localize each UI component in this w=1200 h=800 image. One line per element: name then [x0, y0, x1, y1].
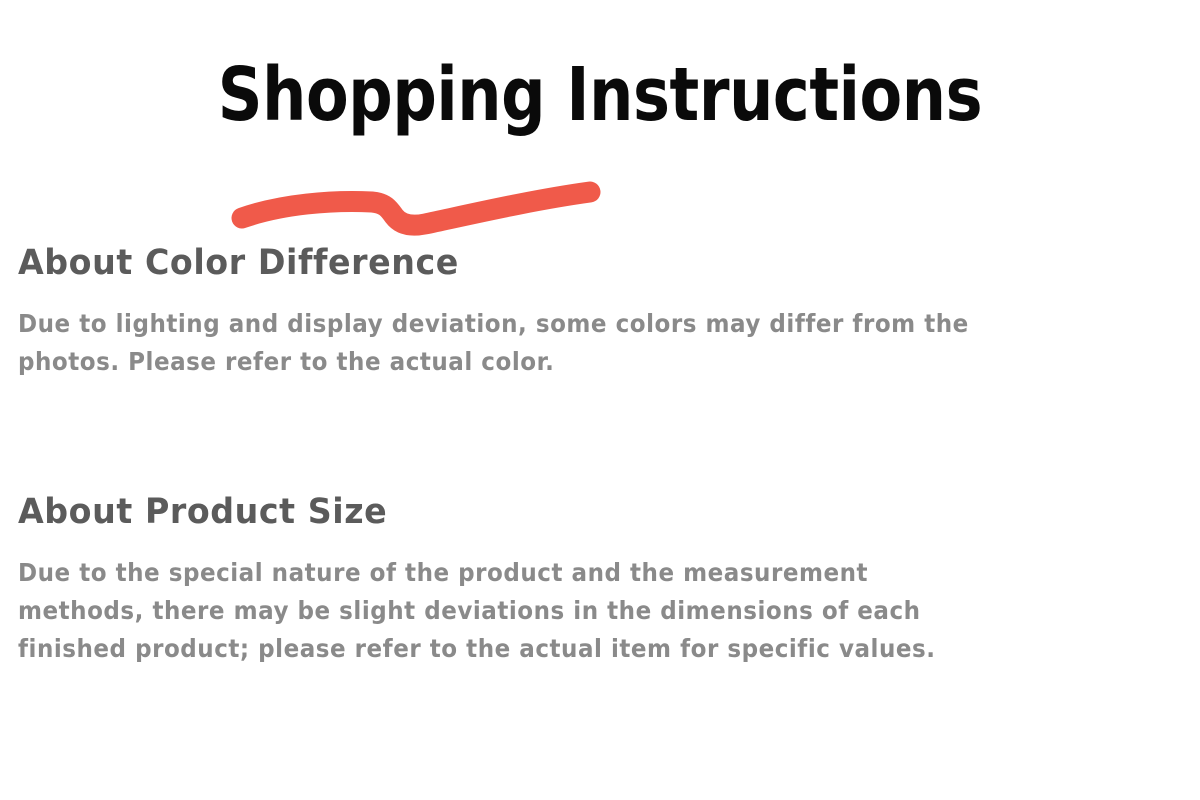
body-line: photos. Please refer to the actual color…	[18, 343, 1118, 381]
section-heading-product-size: About Product Size	[18, 492, 1130, 532]
section-heading-color-difference: About Color Difference	[18, 243, 1130, 283]
body-line: finished product; please refer to the ac…	[18, 630, 1118, 668]
body-line: Due to the special nature of the product…	[18, 554, 1118, 592]
red-brush-underline-icon	[222, 176, 622, 244]
body-line: methods, there may be slight deviations …	[18, 592, 1118, 630]
section-product-size: About Product Size Due to the special na…	[18, 492, 1188, 668]
page-title: Shopping Instructions	[218, 58, 982, 132]
section-body-product-size: Due to the special nature of the product…	[18, 554, 1118, 668]
section-body-color-difference: Due to lighting and display deviation, s…	[18, 305, 1118, 381]
body-line: Due to lighting and display deviation, s…	[18, 305, 1118, 343]
shopping-instructions-page: Shopping Instructions About Color Differ…	[0, 0, 1200, 800]
section-color-difference: About Color Difference Due to lighting a…	[18, 243, 1188, 381]
page-title-block: Shopping Instructions	[0, 58, 1200, 188]
